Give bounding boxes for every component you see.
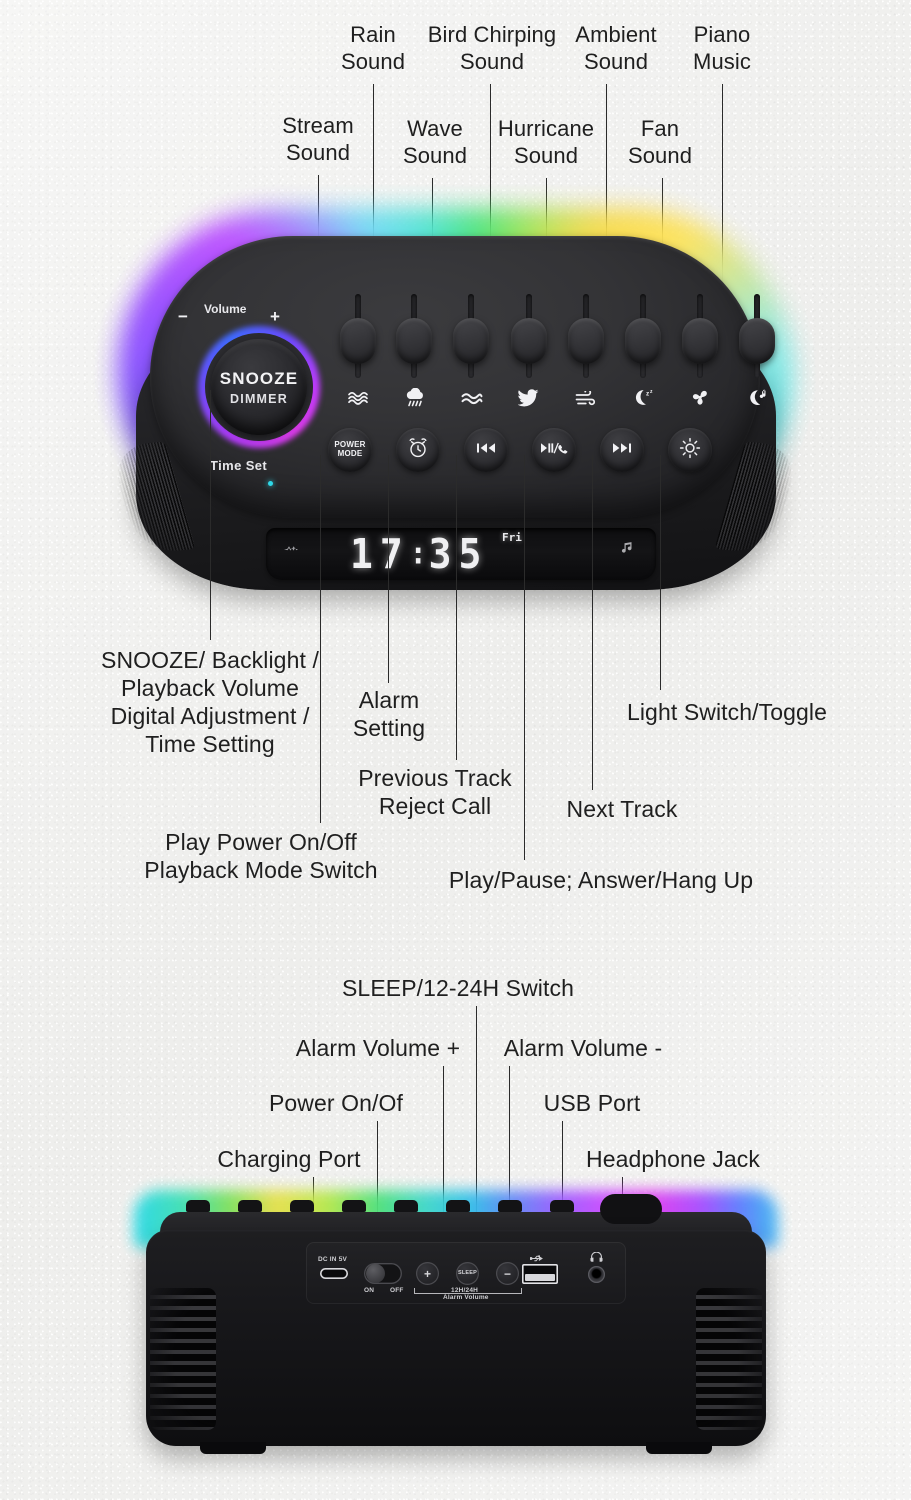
wave-icon [457, 392, 487, 405]
bluetooth-indicator-icon [284, 542, 298, 556]
svg-text:z: z [650, 389, 653, 395]
moon-zzz-icon: z z [628, 388, 658, 407]
charging-port-usb-c[interactable] [320, 1268, 348, 1279]
switch-on-label: ON [364, 1287, 374, 1294]
product-diagram: Rain Sound Bird Chirping Sound Ambient S… [0, 0, 911, 1500]
rear-nub [186, 1200, 210, 1212]
volume-plus-label: + [270, 308, 280, 325]
alarm-volume-label: Alarm Volume [443, 1294, 489, 1301]
callout-ambient-sound: Ambient Sound [556, 22, 676, 76]
rear-foot-left [200, 1442, 266, 1454]
previous-track-icon [476, 441, 496, 460]
play-pause-call-button[interactable] [532, 428, 576, 472]
callout-alarm-volume-down: Alarm Volume - [497, 1034, 669, 1062]
callout-alarm-setting: Alarm Setting [332, 686, 446, 742]
rear-nub [394, 1200, 418, 1212]
snooze-label: SNOOZE [220, 369, 298, 389]
alarm-volume-down-button[interactable]: − [496, 1262, 519, 1285]
rear-nub [238, 1200, 262, 1212]
power-switch-knob[interactable] [366, 1264, 385, 1283]
slider-thumb[interactable] [511, 318, 547, 364]
clock-colon: : [410, 536, 429, 572]
knob-face[interactable]: SNOOZE DIMMER [211, 339, 307, 435]
clock-hours: 17 [350, 530, 410, 578]
usb-a-port[interactable] [522, 1264, 558, 1284]
sound-machine-top-view: − Volume + SNOOZE DIMMER Time Set [110, 212, 800, 602]
slider-thumb[interactable] [682, 318, 718, 364]
io-port-panel: DC IN 5V ON OFF + SLEEP − 12H/24H Alarm … [306, 1242, 626, 1304]
slider-thumb[interactable] [453, 318, 489, 364]
callout-power-on-off: Power On/Of [268, 1089, 404, 1117]
device-top-face: − Volume + SNOOZE DIMMER Time Set [150, 236, 760, 518]
volume-label: Volume [204, 302, 246, 316]
next-track-button[interactable] [600, 428, 644, 472]
leader-line-play-power [320, 455, 321, 823]
rear-nub [550, 1200, 574, 1212]
day-of-week-label: Fri [502, 531, 522, 544]
rear-foot-right [646, 1442, 712, 1454]
rear-speaker-grille-left [150, 1288, 216, 1430]
callout-wave-sound: Wave Sound [383, 116, 487, 170]
callout-charging-port: Charging Port [216, 1145, 362, 1173]
switch-off-label: OFF [390, 1287, 404, 1294]
leader-line-next-track [592, 455, 593, 790]
next-track-icon [612, 441, 632, 460]
slider-thumb[interactable] [739, 318, 775, 364]
time-set-label: Time Set [210, 458, 267, 473]
callout-hurricane-sound: Hurricane Sound [487, 116, 605, 170]
mode-label: MODE [338, 449, 363, 458]
brightness-sun-icon [679, 437, 701, 464]
bird-icon [514, 388, 544, 407]
rear-nub [498, 1200, 522, 1212]
brightness-button[interactable] [668, 428, 712, 472]
callout-stream-sound: Stream Sound [262, 113, 374, 167]
callout-play-power: Play Power On/Off Playback Mode Switch [131, 828, 391, 884]
callout-snooze-backlight: SNOOZE/ Backlight / Playback Volume Digi… [43, 646, 377, 758]
callout-bird-chirping-sound: Bird Chirping Sound [407, 22, 577, 76]
slider-thumb[interactable] [625, 318, 661, 364]
alarm-clock-icon [407, 437, 429, 464]
sound-machine-rear-view: DC IN 5V ON OFF + SLEEP − 12H/24H Alarm … [120, 1190, 792, 1460]
sleep-12-24h-button[interactable]: SLEEP [456, 1262, 479, 1285]
led-display-panel: Fri 17:35 [266, 528, 656, 580]
fan-icon [685, 388, 715, 407]
leader-line-light-switch [660, 455, 661, 690]
callout-usb-port: USB Port [541, 1089, 643, 1117]
power-label: POWER [334, 440, 365, 449]
rear-nub [446, 1200, 470, 1212]
callout-sleep-switch: SLEEP/12-24H Switch [338, 974, 578, 1002]
rear-knob-top [600, 1194, 662, 1224]
play-pause-phone-icon [540, 441, 568, 460]
moon-note-icon [742, 388, 772, 407]
callout-play-pause: Play/Pause; Answer/Hang Up [437, 866, 765, 894]
callout-piano-music: Piano Music [668, 22, 776, 76]
headphone-jack-port[interactable] [588, 1266, 605, 1283]
status-led-indicator [268, 481, 273, 486]
callout-light-switch: Light Switch/Toggle [600, 698, 854, 726]
leader-line-snooze [210, 390, 211, 640]
callout-previous-track: Previous Track Reject Call [340, 764, 530, 820]
wind-icon [571, 391, 601, 406]
rear-nub [342, 1200, 366, 1212]
power-mode-label: POWER MODE [334, 441, 365, 459]
slider-thumb[interactable] [568, 318, 604, 364]
snooze-dimmer-knob[interactable]: SNOOZE DIMMER [198, 326, 320, 448]
callout-headphone-jack: Headphone Jack [583, 1145, 763, 1173]
headphone-jack-icon [590, 1252, 603, 1264]
stream-waves-icon [343, 390, 373, 406]
music-note-indicator-icon [620, 541, 634, 558]
slider-thumb[interactable] [396, 318, 432, 364]
rear-body: DC IN 5V ON OFF + SLEEP − 12H/24H Alarm … [146, 1230, 766, 1446]
leader-line-previous-track [456, 455, 457, 760]
dc-in-label: DC IN 5V [318, 1256, 347, 1263]
callout-next-track: Next Track [545, 795, 699, 823]
rear-nub [290, 1200, 314, 1212]
slider-thumb[interactable] [340, 318, 376, 364]
leader-line-alarm-setting [388, 455, 389, 683]
volume-minus-label: − [178, 308, 188, 325]
dimmer-label: DIMMER [230, 392, 288, 406]
callout-fan-sound: Fan Sound [613, 116, 707, 170]
previous-track-button[interactable] [464, 428, 508, 472]
clock-time-display: 17:35 [350, 530, 488, 578]
alarm-clock-button[interactable] [396, 428, 440, 472]
clock-minutes: 35 [429, 530, 489, 578]
alarm-volume-up-button[interactable]: + [416, 1262, 439, 1285]
rear-speaker-grille-right [696, 1288, 762, 1430]
callout-alarm-volume-up: Alarm Volume + [290, 1034, 466, 1062]
rain-cloud-icon [400, 388, 430, 408]
power-mode-button[interactable]: POWER MODE [328, 428, 372, 472]
